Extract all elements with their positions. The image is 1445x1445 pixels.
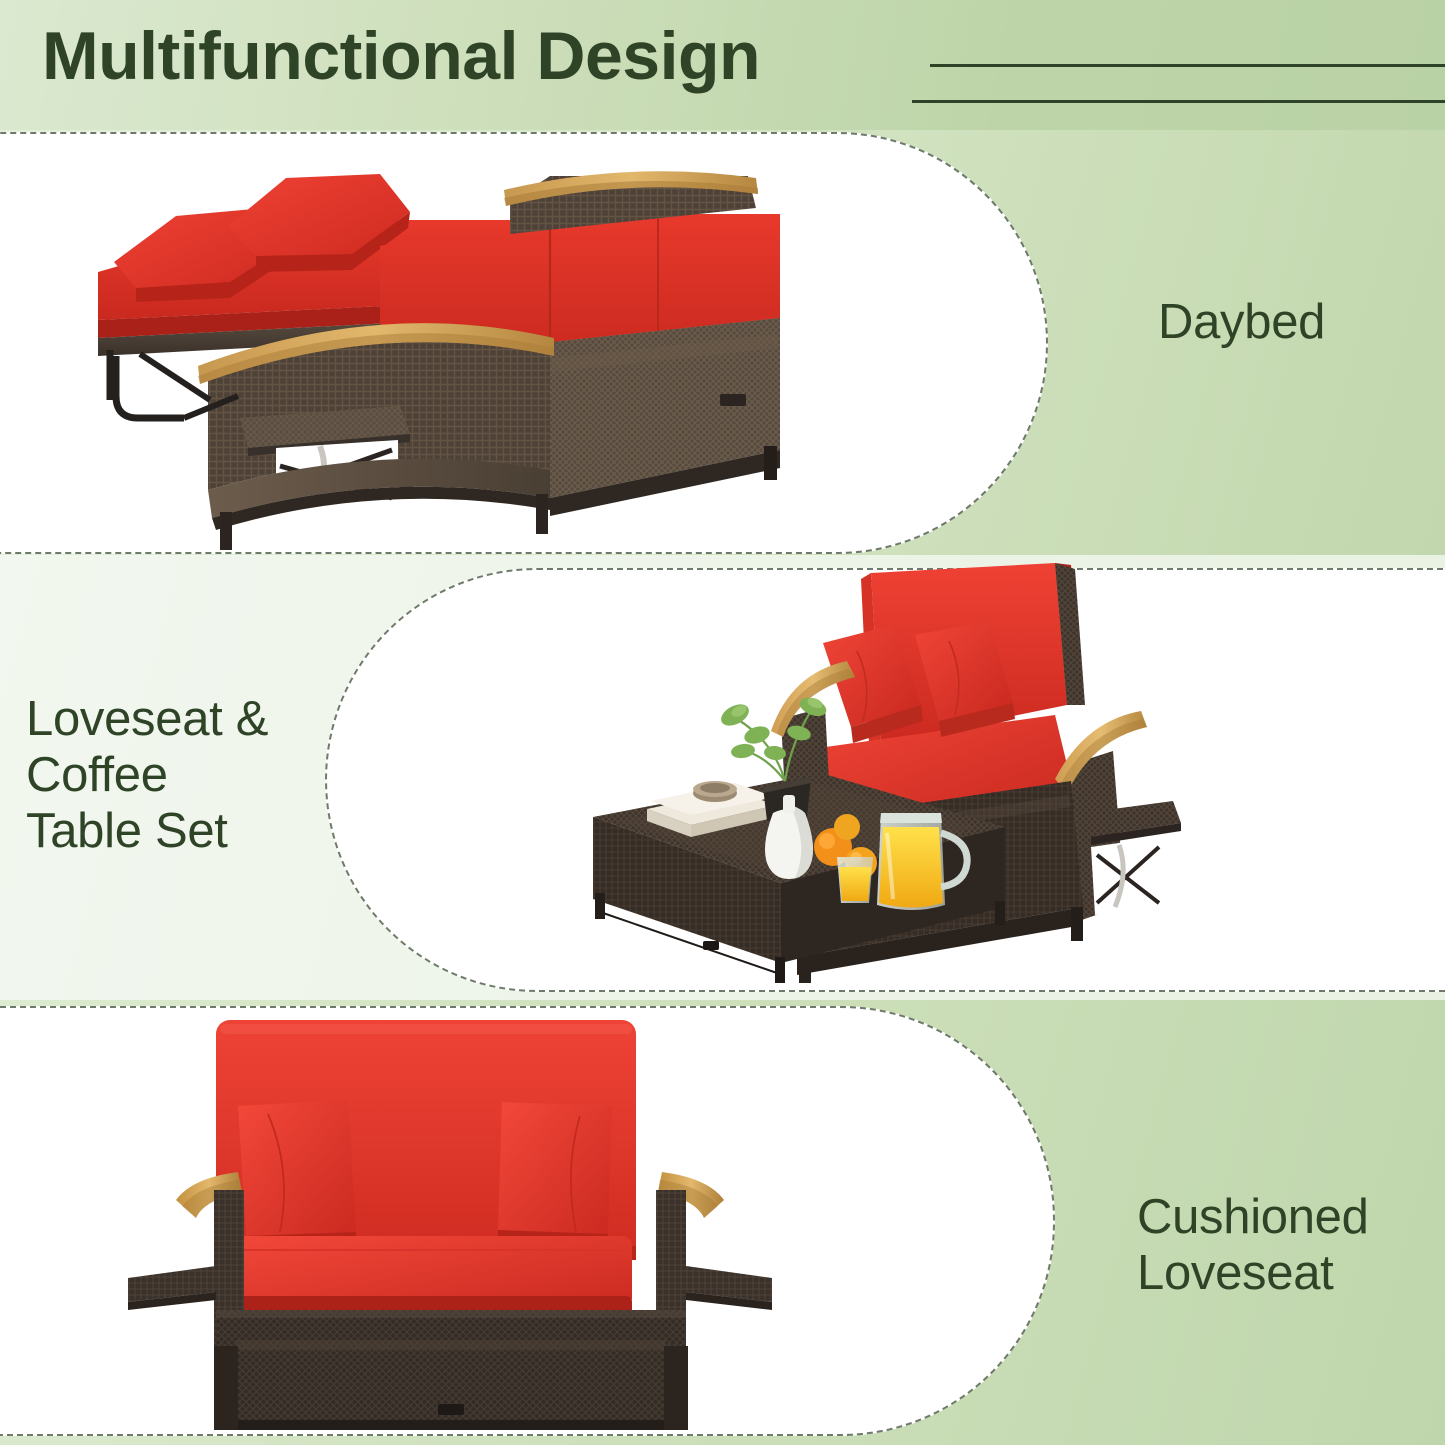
loveseat-coffee-table-illustration (585, 555, 1285, 1000)
infographic-canvas: Multifunctional Design (0, 0, 1445, 1445)
callout-cushioned-line-1: Cushioned (1137, 1190, 1369, 1246)
callout-loveseat-line-3: Table Set (26, 804, 268, 860)
daybed-illustration (80, 150, 880, 550)
callout-loveseat-coffee-table: Loveseat & Coffee Table Set (26, 692, 268, 860)
callout-daybed: Daybed (1158, 295, 1325, 351)
cushioned-loveseat-illustration (120, 1010, 780, 1435)
callout-cushioned-line-2: Loveseat (1137, 1246, 1369, 1302)
callout-cushioned-loveseat: Cushioned Loveseat (1137, 1190, 1369, 1302)
header-rule-top (930, 64, 1445, 67)
page-title: Multifunctional Design (42, 22, 760, 90)
callout-loveseat-line-1: Loveseat & (26, 692, 268, 748)
callout-daybed-line-1: Daybed (1158, 295, 1325, 351)
header-rule-bottom (912, 100, 1445, 103)
callout-loveseat-line-2: Coffee (26, 748, 268, 804)
